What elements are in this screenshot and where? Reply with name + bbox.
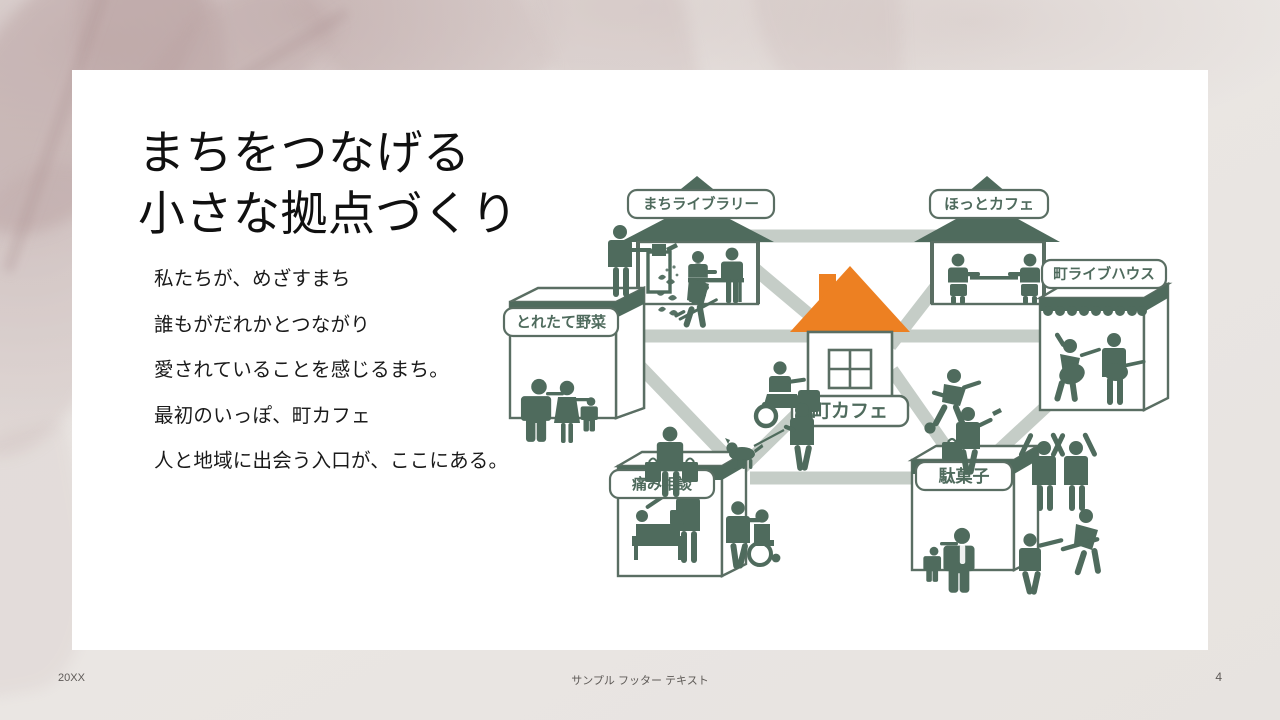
label-hot-cafe: ほっとカフェ (930, 190, 1048, 218)
label-town-cafe-text: 町カフェ (812, 400, 888, 422)
figure-baseball-pitcher (1060, 509, 1101, 576)
community-hub-illustration: 町カフェ (492, 118, 1182, 628)
figure-baseball-batter (1019, 533, 1064, 595)
slide-content-card: まちをつなげる 小さな拠点づくり 私たちが、めざすまち 誰もがだれかとつながり … (72, 70, 1208, 650)
figure-wheelchair-user (749, 509, 780, 565)
slide-footer: 20XX サンプル フッター テキスト 4 (0, 650, 1280, 720)
building-hot-cafe: ほっとカフェ (914, 176, 1060, 304)
label-live-house-text: 町ライブハウス (1053, 265, 1155, 283)
label-live-house: 町ライブハウス (1042, 260, 1166, 288)
label-library: まちライブラリー (628, 190, 774, 218)
building-fresh-vegetables: とれたて野菜 (504, 288, 644, 443)
label-hot-cafe-text: ほっとカフェ (944, 196, 1034, 213)
figure-cheering-person-right (1050, 432, 1098, 511)
label-library-text: まちライブラリー (643, 195, 759, 213)
footer-text: サンプル フッター テキスト (0, 672, 1280, 688)
label-fresh-vegetables-text: とれたて野菜 (516, 313, 606, 331)
footer-page-number: 4 (1215, 670, 1222, 684)
building-live-house: 町ライブハウス (1040, 260, 1168, 410)
label-fresh-vegetables: とれたて野菜 (504, 308, 618, 336)
